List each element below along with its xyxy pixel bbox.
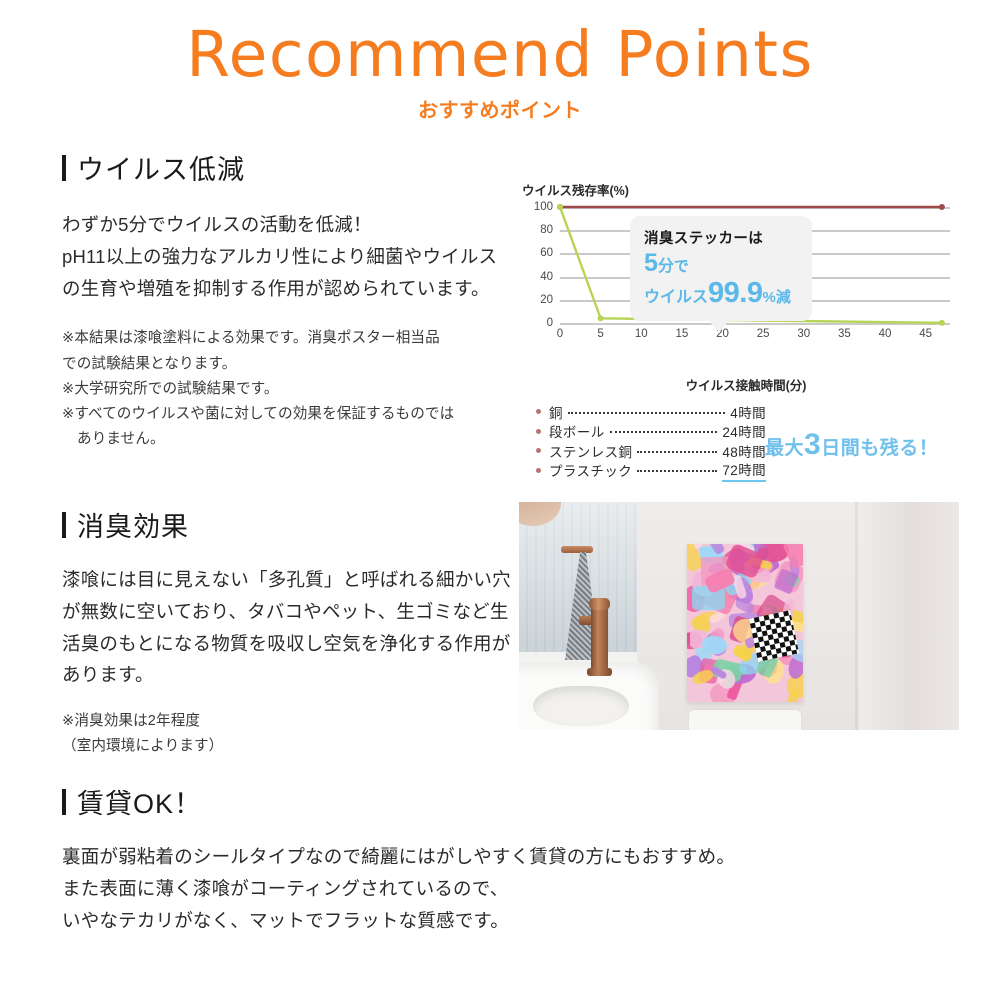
note-deodorizing-1: ※消臭効果は2年程度	[62, 709, 512, 734]
chart-y-tick: 100	[534, 201, 553, 213]
chart-x-tick: 30	[797, 328, 810, 340]
poster-checker-sticker	[749, 610, 799, 662]
chart-x-tick: 25	[757, 328, 770, 340]
page-title: Recommend Points	[0, 22, 1000, 88]
callout-bubble: 消臭ステッカーは 5分で ウイルス99.9%減	[630, 216, 812, 321]
callout-virus-word: ウイルス	[644, 289, 708, 306]
callout-reduce-word: 減	[776, 289, 791, 306]
note-deodorizing-2: （室内環境によります）	[62, 734, 512, 759]
chart-x-tick: 10	[635, 328, 648, 340]
chart-data-point	[598, 315, 604, 321]
legend-duration-value: 24時間	[722, 421, 766, 441]
section-heading-deodorizing: 消臭効果	[62, 505, 512, 544]
photo-towel-hook	[561, 546, 593, 553]
section-heading-virus: ウイルス低減	[62, 148, 512, 187]
infographic-page: Recommend Points おすすめポイント ウイルス低減 わずか5分でウ…	[0, 0, 1000, 1000]
chart-x-tick: 35	[838, 328, 851, 340]
chart-x-tick: 40	[879, 328, 892, 340]
callout-minutes-unit: 分	[658, 258, 674, 275]
legend-bullet-icon	[536, 468, 541, 473]
legend-duration-value: 48時間	[722, 441, 766, 461]
chart-x-tick: 45	[919, 328, 932, 340]
material-survival-legend: 銅4時間段ボール24時間ステンレス銅48時間プラスチック72時間	[536, 402, 766, 480]
badge-number: 3	[804, 428, 821, 461]
section-heading-label: 賃貸OK！	[77, 782, 202, 821]
section-heading-label: ウイルス低減	[77, 148, 245, 187]
chart-y-tick: 20	[540, 294, 553, 306]
chart-data-point	[557, 204, 563, 210]
legend-leader-dots	[568, 412, 725, 414]
legend-material-label: プラスチック	[549, 460, 632, 480]
section-body-rental: 裏面が弱粘着のシールタイプなので綺麗にはがしやすく賃貸の方にもおすすめ。 また表…	[62, 841, 862, 936]
note-virus-2: での試験結果となります。	[62, 352, 512, 377]
chart-y-tick: 0	[547, 317, 553, 329]
section-virus-reduction: ウイルス低減 わずか5分でウイルスの活動を低減！ pH11以上の強力なアルカリ性…	[62, 148, 512, 452]
bathroom-photo	[519, 502, 959, 730]
callout-title: 消臭ステッカーは	[644, 227, 800, 248]
section-rental-ok: 賃貸OK！ 裏面が弱粘着のシールタイプなので綺麗にはがしやすく賃貸の方にもおすす…	[62, 782, 862, 936]
photo-toilet-tank	[689, 710, 801, 730]
heading-bar-icon	[62, 789, 66, 815]
note-virus-4: ※すべてのウイルスや菌に対しての効果を保証するものでは	[62, 402, 512, 427]
chart-x-tick: 15	[675, 328, 688, 340]
photo-wall-corner	[855, 502, 858, 730]
legend-material-label: ステンレス銅	[549, 441, 632, 461]
section-deodorizing: 消臭効果 漆喰には目に見えない「多孔質」と呼ばれる細かい穴が無数に空いており、タ…	[62, 505, 512, 759]
legend-leader-dots	[637, 451, 717, 453]
legend-row: 段ボール24時間	[536, 422, 766, 442]
section-body-deodorizing: 漆喰には目に見えない「多孔質」と呼ばれる細かい穴が無数に空いており、タバコやペッ…	[62, 564, 512, 691]
chart-data-point	[939, 320, 945, 326]
photo-faucet-handle	[589, 598, 610, 610]
heading-bar-icon	[62, 512, 66, 538]
photo-sink-bowl-inner	[533, 686, 629, 726]
legend-bullet-icon	[536, 429, 541, 434]
legend-bullet-icon	[536, 409, 541, 414]
photo-faucet-base	[587, 668, 612, 676]
page-subtitle: おすすめポイント	[0, 94, 1000, 123]
chart-y-tick: 60	[540, 247, 553, 259]
legend-leader-dots	[637, 470, 717, 472]
chart-x-axis-label: ウイルス接触時間(分)	[530, 375, 962, 394]
callout-minutes-number: 5	[644, 249, 658, 277]
note-virus-5: ありません。	[62, 427, 512, 452]
legend-leader-dots	[610, 431, 718, 433]
chart-data-point	[939, 204, 945, 210]
badge-prefix: 最大	[765, 438, 804, 459]
section-heading-label: 消臭効果	[77, 505, 189, 544]
callout-percent-number: 99.9	[708, 277, 762, 309]
legend-row: プラスチック72時間	[536, 461, 766, 481]
section-body-virus: わずか5分でウイルスの活動を低減！ pH11以上の強力なアルカリ性により細菌やウ…	[62, 209, 512, 304]
legend-duration-value: 4時間	[730, 402, 766, 422]
photo-faucet-body	[591, 602, 608, 674]
chart-x-tick: 5	[597, 328, 603, 340]
callout-reduction-row: ウイルス99.9%減	[644, 278, 800, 310]
legend-material-label: 銅	[549, 402, 563, 422]
chart-y-tick: 40	[540, 271, 553, 283]
chart-y-tick: 80	[540, 224, 553, 236]
legend-bullet-icon	[536, 448, 541, 453]
heading-bar-icon	[62, 155, 66, 181]
max-3days-badge: 最大3日間も残る！	[765, 428, 938, 462]
legend-duration-value: 72時間	[722, 459, 766, 482]
chart-x-tick: 0	[557, 328, 563, 340]
virus-survival-chart: ウイルス残存率(%) 02040608010005101520253035404…	[522, 180, 962, 394]
callout-percent-sign: %	[762, 289, 775, 306]
chart-y-axis-label: ウイルス残存率(%)	[522, 180, 962, 199]
note-virus-3: ※大学研究所での試験結果です。	[62, 377, 512, 402]
callout-minutes-suffix: で	[674, 258, 689, 275]
note-virus-1: ※本結果は漆喰塗料による効果です。消臭ポスター相当品	[62, 326, 512, 351]
legend-row: 銅4時間	[536, 402, 766, 422]
photo-sticker-poster	[687, 544, 803, 702]
photo-wall-right	[859, 502, 959, 730]
page-header: Recommend Points おすすめポイント	[0, 22, 1000, 123]
legend-material-label: 段ボール	[549, 421, 605, 441]
callout-minutes-row: 5分で	[644, 250, 800, 278]
legend-row: ステンレス銅48時間	[536, 441, 766, 461]
badge-suffix: 日間も残る！	[821, 438, 938, 459]
section-heading-rental: 賃貸OK！	[62, 782, 862, 821]
